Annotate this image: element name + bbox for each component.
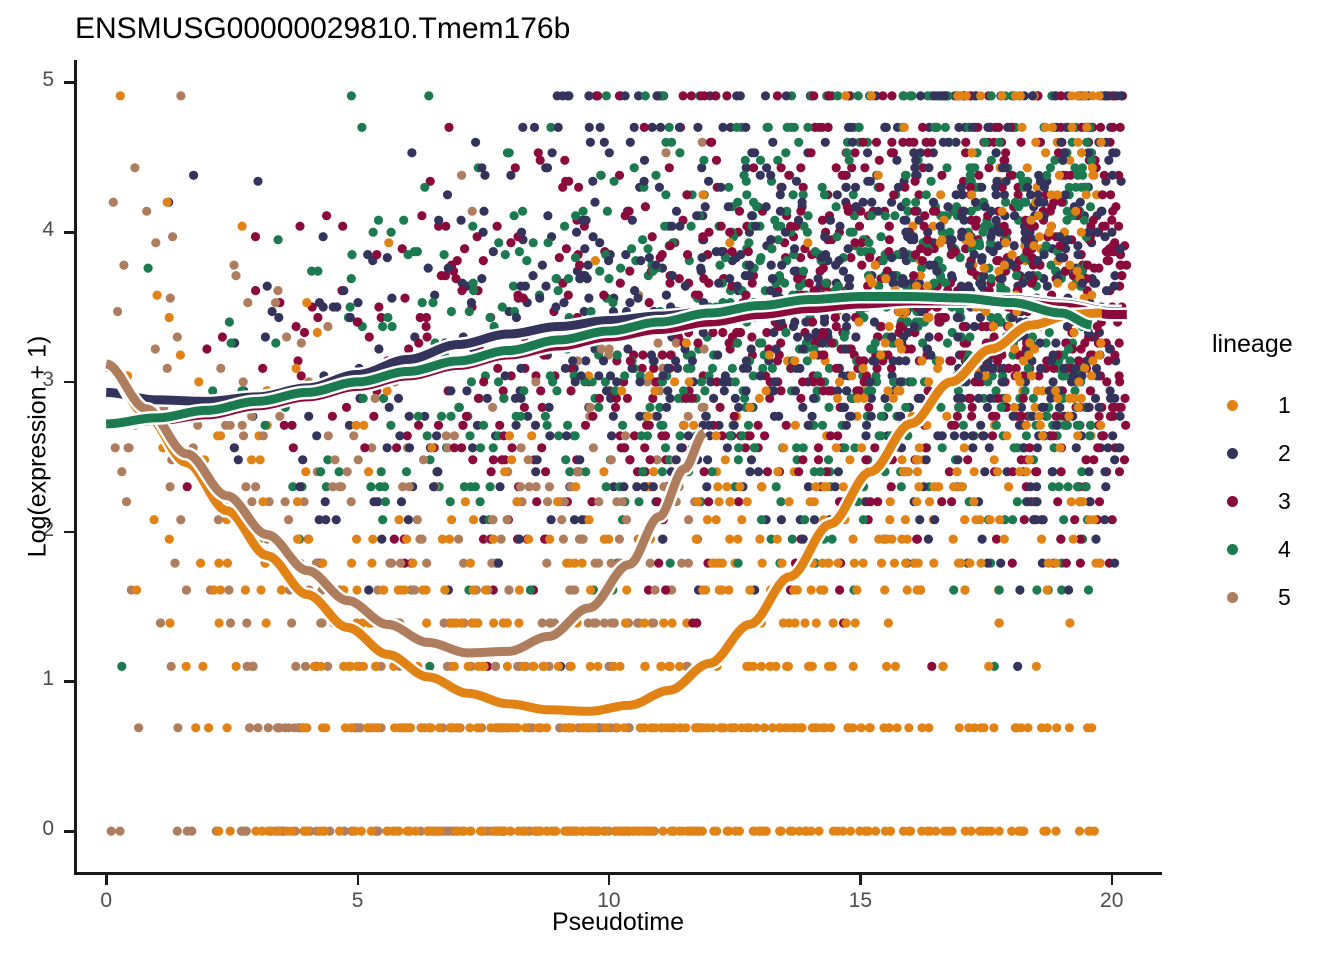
scatter-point xyxy=(970,723,979,732)
page-title: ENSMUSG00000029810.Tmem176b xyxy=(75,12,570,46)
scatter-point xyxy=(371,394,380,403)
fitted-curve-halo-1 xyxy=(106,313,1102,711)
scatter-point xyxy=(977,183,986,192)
scatter-point xyxy=(300,328,309,337)
scatter-point xyxy=(755,338,764,347)
scatter-point xyxy=(667,222,676,231)
scatter-point xyxy=(256,455,265,464)
scatter-point xyxy=(447,307,456,316)
scatter-point xyxy=(662,291,671,300)
scatter-point xyxy=(116,91,125,100)
scatter-point xyxy=(595,394,604,403)
scatter-point xyxy=(648,232,657,241)
scatter-point xyxy=(604,274,613,283)
legend-item-3[interactable]: 3 xyxy=(1212,477,1342,525)
scatter-point xyxy=(457,171,466,180)
scatter-point xyxy=(1100,467,1109,476)
scatter-point xyxy=(751,222,760,231)
scatter-point xyxy=(1065,618,1074,627)
scatter-point xyxy=(968,123,977,132)
scatter-point xyxy=(957,482,966,491)
scatter-point xyxy=(850,148,859,157)
scatter-point xyxy=(654,559,663,568)
scatter-point xyxy=(866,377,875,386)
scatter-point xyxy=(990,455,999,464)
scatter-point xyxy=(840,403,849,412)
scatter-point xyxy=(1065,723,1074,732)
scatter-point xyxy=(726,497,735,506)
scatter-point xyxy=(745,261,754,270)
scatter-point xyxy=(959,322,968,331)
scatter-point xyxy=(1032,585,1041,594)
scatter-point xyxy=(950,421,959,430)
scatter-point xyxy=(527,431,536,440)
scatter-point xyxy=(809,394,818,403)
scatter-point xyxy=(675,148,684,157)
scatter-point xyxy=(874,171,883,180)
scatter-point xyxy=(492,723,501,732)
scatter-point xyxy=(851,332,860,341)
scatter-point xyxy=(321,497,330,506)
scatter-point xyxy=(643,412,652,421)
scatter-point xyxy=(499,618,508,627)
scatter-point xyxy=(191,723,200,732)
scatter-point xyxy=(609,618,618,627)
scatter-point xyxy=(215,618,224,627)
scatter-point xyxy=(700,467,709,476)
scatter-point xyxy=(594,497,603,506)
scatter-point xyxy=(790,244,799,253)
scatter-point xyxy=(651,585,660,594)
scatter-point xyxy=(947,356,956,365)
scatter-point xyxy=(1081,91,1090,100)
scatter-point xyxy=(589,232,598,241)
scatter-point xyxy=(1032,467,1041,476)
scatter-point xyxy=(560,222,569,231)
y-tick-label: 1 xyxy=(14,667,54,691)
scatter-point xyxy=(765,662,774,671)
scatter-point xyxy=(1070,515,1079,524)
legend-item-5[interactable]: 5 xyxy=(1212,573,1342,621)
fitted-curve-halo-2 xyxy=(106,298,1122,401)
scatter-point xyxy=(115,827,124,836)
scatter-point xyxy=(274,235,283,244)
scatter-point xyxy=(782,421,791,430)
scatter-point xyxy=(645,403,654,412)
scatter-point xyxy=(182,662,191,671)
scatter-point xyxy=(479,207,488,216)
scatter-point xyxy=(168,232,177,241)
scatter-point xyxy=(896,322,905,331)
scatter-point xyxy=(700,386,709,395)
scatter-point xyxy=(251,827,260,836)
scatter-point xyxy=(808,723,817,732)
scatter-point xyxy=(701,412,710,421)
scatter-point xyxy=(914,559,923,568)
scatter-point xyxy=(516,482,525,491)
scatter-point xyxy=(531,421,540,430)
scatter-point xyxy=(661,148,670,157)
legend-item-1[interactable]: 1 xyxy=(1212,381,1342,429)
scatter-point xyxy=(426,723,435,732)
scatter-point xyxy=(916,244,925,253)
scatter-point xyxy=(783,123,792,132)
scatter-point xyxy=(464,662,473,671)
scatter-point xyxy=(790,317,799,326)
scatter-point xyxy=(599,291,608,300)
scatter-point xyxy=(851,183,860,192)
scatter-point xyxy=(394,394,403,403)
scatter-point xyxy=(563,421,572,430)
scatter-point xyxy=(755,394,764,403)
scatter-point xyxy=(638,467,647,476)
scatter-point xyxy=(130,163,139,172)
scatter-point xyxy=(343,467,352,476)
scatter-point xyxy=(658,535,667,544)
scatter-point xyxy=(450,443,459,452)
scatter-point xyxy=(651,171,660,180)
scatter-point xyxy=(799,267,808,276)
scatter-point xyxy=(504,585,513,594)
scatter-point xyxy=(798,377,807,386)
scatter-point xyxy=(865,274,874,283)
scatter-point xyxy=(976,559,985,568)
scatter-point xyxy=(960,216,969,225)
scatter-point xyxy=(480,662,489,671)
scatter-point xyxy=(444,264,453,273)
scatter-point xyxy=(558,183,567,192)
scatter-point xyxy=(712,156,721,165)
scatter-point xyxy=(460,244,469,253)
scatter-point xyxy=(602,386,611,395)
scatter-point xyxy=(357,123,366,132)
scatter-point xyxy=(596,123,605,132)
scatter-point xyxy=(803,123,812,132)
scatter-point xyxy=(1082,190,1091,199)
scatter-point xyxy=(293,535,302,544)
y-tick-mark xyxy=(64,231,74,234)
scatter-point xyxy=(433,467,442,476)
scatter-point xyxy=(300,827,309,836)
scatter-point xyxy=(755,535,764,544)
scatter-point xyxy=(411,827,420,836)
scatter-point xyxy=(777,163,786,172)
scatter-point xyxy=(824,91,833,100)
scatter-point xyxy=(1115,338,1124,347)
scatter-point xyxy=(1034,211,1043,220)
scatter-point xyxy=(377,467,386,476)
scatter-point xyxy=(622,585,631,594)
scatter-point xyxy=(745,403,754,412)
scatter-point xyxy=(923,313,932,322)
scatter-point xyxy=(793,332,802,341)
scatter-point xyxy=(839,482,848,491)
scatter-point xyxy=(368,723,377,732)
scatter-point xyxy=(407,148,416,157)
scatter-point xyxy=(1100,515,1109,524)
scatter-point xyxy=(273,286,282,295)
scatter-point xyxy=(630,163,639,172)
scatter-point xyxy=(552,386,561,395)
scatter-point xyxy=(643,244,652,253)
scatter-point xyxy=(910,207,919,216)
scatter-point xyxy=(476,497,485,506)
scatter-point xyxy=(640,443,649,452)
legend-item-2[interactable]: 2 xyxy=(1212,429,1342,477)
scatter-point xyxy=(227,338,236,347)
scatter-point xyxy=(986,515,995,524)
scatter-point xyxy=(658,350,667,359)
scatter-point xyxy=(952,190,961,199)
scatter-point xyxy=(284,515,293,524)
scatter-point xyxy=(626,138,635,147)
scatter-point xyxy=(577,371,586,380)
scatter-point xyxy=(593,662,602,671)
scatter-point xyxy=(1084,403,1093,412)
scatter-point xyxy=(734,403,743,412)
scatter-point xyxy=(241,482,250,491)
scatter-point xyxy=(1056,535,1065,544)
scatter-point xyxy=(225,317,234,326)
scatter-point xyxy=(584,515,593,524)
scatter-point xyxy=(732,91,741,100)
y-tick-label: 0 xyxy=(14,817,54,841)
scatter-point xyxy=(394,723,403,732)
scatter-point xyxy=(835,222,844,231)
scatter-point xyxy=(1041,148,1050,157)
scatter-point xyxy=(427,443,436,452)
scatter-point xyxy=(1019,827,1028,836)
scatter-point xyxy=(832,163,841,172)
scatter-point xyxy=(768,364,777,373)
scatter-point xyxy=(681,394,690,403)
scatter-point xyxy=(661,443,670,452)
scatter-point xyxy=(980,138,989,147)
scatter-point xyxy=(766,235,775,244)
scatter-point xyxy=(620,443,629,452)
scatter-point xyxy=(841,91,850,100)
scatter-point xyxy=(347,91,356,100)
scatter-point xyxy=(552,274,561,283)
scatter-point xyxy=(1096,421,1105,430)
scatter-point xyxy=(625,298,634,307)
scatter-point xyxy=(912,282,921,291)
scatter-point xyxy=(773,91,782,100)
scatter-point xyxy=(226,618,235,627)
scatter-point xyxy=(107,827,116,836)
scatter-point xyxy=(1067,91,1076,100)
scatter-point xyxy=(536,156,545,165)
scatter-point xyxy=(623,394,632,403)
scatter-point xyxy=(230,443,239,452)
scatter-point xyxy=(242,827,251,836)
scatter-point xyxy=(616,264,625,273)
scatter-point xyxy=(913,535,922,544)
scatter-point xyxy=(901,216,910,225)
scatter-point xyxy=(505,431,514,440)
scatter-point xyxy=(173,827,182,836)
scatter-point xyxy=(525,482,534,491)
scatter-point xyxy=(750,148,759,157)
scatter-point xyxy=(1075,497,1084,506)
scatter-point xyxy=(264,723,273,732)
scatter-point xyxy=(735,482,744,491)
scatter-point xyxy=(304,535,313,544)
scatter-point xyxy=(734,443,743,452)
scatter-point xyxy=(953,412,962,421)
scatter-point xyxy=(518,123,527,132)
y-tick-mark xyxy=(64,381,74,384)
scatter-point xyxy=(1019,394,1028,403)
scatter-point xyxy=(566,585,575,594)
scatter-point xyxy=(584,91,593,100)
scatter-point xyxy=(383,443,392,452)
scatter-point xyxy=(810,497,819,506)
scatter-point xyxy=(542,827,551,836)
scatter-point xyxy=(784,662,793,671)
scatter-point xyxy=(459,421,468,430)
scatter-point xyxy=(757,515,766,524)
scatter-point xyxy=(478,827,487,836)
scatter-point xyxy=(865,253,874,262)
scatter-point xyxy=(911,177,920,186)
scatter-point xyxy=(649,467,658,476)
scatter-point xyxy=(777,183,786,192)
scatter-point xyxy=(768,274,777,283)
scatter-point xyxy=(714,279,723,288)
scatter-point xyxy=(1018,279,1027,288)
scatter-point xyxy=(543,421,552,430)
legend-item-4[interactable]: 4 xyxy=(1212,525,1342,573)
scatter-point xyxy=(189,171,198,180)
scatter-point xyxy=(725,228,734,237)
scatter-point xyxy=(988,412,997,421)
scatter-point xyxy=(214,827,223,836)
x-axis-title: Pseudotime xyxy=(0,908,1236,937)
scatter-point xyxy=(216,431,225,440)
scatter-point xyxy=(640,123,649,132)
scatter-point xyxy=(446,386,455,395)
scatter-point xyxy=(704,177,713,186)
scatter-point xyxy=(861,431,870,440)
scatter-point xyxy=(897,535,906,544)
scatter-point xyxy=(649,618,658,627)
scatter-point xyxy=(565,467,574,476)
scatter-point xyxy=(1060,148,1069,157)
scatter-point xyxy=(542,559,551,568)
scatter-point xyxy=(849,228,858,237)
scatter-point xyxy=(1022,247,1031,256)
scatter-point xyxy=(665,123,674,132)
scatter-point xyxy=(718,585,727,594)
scatter-point xyxy=(1027,371,1036,380)
scatter-point xyxy=(599,356,608,365)
scatter-point xyxy=(952,467,961,476)
scatter-point xyxy=(621,618,630,627)
scatter-point xyxy=(851,618,860,627)
scatter-point xyxy=(968,443,977,452)
scatter-point xyxy=(1089,279,1098,288)
scatter-point xyxy=(489,618,498,627)
scatter-point xyxy=(994,618,1003,627)
scatter-point xyxy=(693,338,702,347)
scatter-point xyxy=(728,247,737,256)
scatter-point xyxy=(424,264,433,273)
scatter-point xyxy=(746,431,755,440)
scatter-point xyxy=(460,827,469,836)
scatter-point xyxy=(256,585,265,594)
scatter-point xyxy=(584,618,593,627)
scatter-point xyxy=(721,455,730,464)
scatter-point xyxy=(606,371,615,380)
scatter-point xyxy=(226,827,235,836)
scatter-point xyxy=(1016,138,1025,147)
scatter-point xyxy=(586,403,595,412)
scatter-point xyxy=(271,298,280,307)
scatter-point xyxy=(953,455,962,464)
scatter-point xyxy=(929,261,938,270)
scatter-point xyxy=(586,138,595,147)
scatter-point xyxy=(1051,559,1060,568)
scatter-point xyxy=(870,317,879,326)
scatter-point xyxy=(479,256,488,265)
scatter-point xyxy=(566,386,575,395)
scatter-point xyxy=(665,163,674,172)
scatter-point xyxy=(1064,412,1073,421)
scatter-point xyxy=(993,356,1002,365)
scatter-point xyxy=(838,171,847,180)
scatter-point xyxy=(711,91,720,100)
scatter-point xyxy=(886,827,895,836)
scatter-point xyxy=(988,431,997,440)
scatter-point xyxy=(866,723,875,732)
scatter-point xyxy=(824,386,833,395)
scatter-point xyxy=(1093,443,1102,452)
scatter-point xyxy=(829,618,838,627)
scatter-point xyxy=(666,241,675,250)
scatter-point xyxy=(1091,559,1100,568)
scatter-point xyxy=(891,662,900,671)
scatter-point xyxy=(651,261,660,270)
scatter-point xyxy=(810,515,819,524)
scatter-point xyxy=(473,618,482,627)
scatter-point xyxy=(949,585,958,594)
scatter-point xyxy=(424,91,433,100)
scatter-point xyxy=(372,250,381,259)
scatter-point xyxy=(687,91,696,100)
scatter-point xyxy=(575,455,584,464)
scatter-point xyxy=(834,559,843,568)
scatter-point xyxy=(1015,467,1024,476)
scatter-point xyxy=(501,250,510,259)
scatter-point xyxy=(1046,207,1055,216)
scatter-point xyxy=(728,364,737,373)
scatter-point xyxy=(499,394,508,403)
scatter-point xyxy=(844,207,853,216)
scatter-point xyxy=(1010,211,1019,220)
scatter-point xyxy=(243,662,252,671)
scatter-point xyxy=(369,412,378,421)
scatter-point xyxy=(559,298,568,307)
scatter-point xyxy=(704,421,713,430)
scatter-point xyxy=(366,482,375,491)
scatter-point xyxy=(749,198,758,207)
scatter-point xyxy=(176,91,185,100)
scatter-point xyxy=(536,723,545,732)
scatter-point xyxy=(571,431,580,440)
scatter-point xyxy=(640,723,649,732)
scatter-point xyxy=(1033,443,1042,452)
